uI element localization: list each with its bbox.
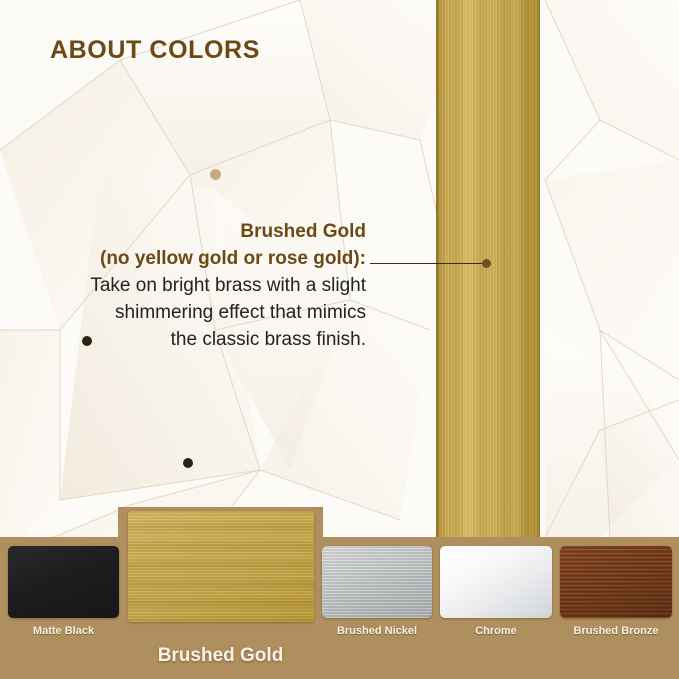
callout-anchor-dot-icon	[482, 259, 491, 268]
callout-line-3: Take on bright brass with a slight	[40, 273, 366, 300]
swatch-label-brushed-nickel: Brushed Nickel	[322, 625, 432, 637]
column-right-edge-shade	[537, 0, 540, 537]
swatch-chrome[interactable]	[440, 546, 552, 618]
callout-line-5: the classic brass finish.	[40, 327, 366, 354]
callout-text-block: Brushed Gold (no yellow gold or rose gol…	[40, 219, 366, 354]
brushed-gold-column	[436, 0, 540, 537]
callout-line-4: shimmering effect that mimics	[40, 300, 366, 327]
decorative-dot-tan	[210, 169, 221, 180]
swatch-brushed-nickel[interactable]	[322, 546, 432, 618]
callout-line-1: Brushed Gold	[40, 219, 366, 246]
callout-line-2: (no yellow gold or rose gold):	[40, 246, 366, 273]
callout-leader-line	[370, 263, 482, 264]
swatch-label-chrome: Chrome	[440, 625, 552, 637]
column-left-edge-shade	[436, 0, 439, 537]
swatch-label-brushed-gold: Brushed Gold	[118, 645, 323, 667]
about-colors-infographic: ABOUT COLORS Brushed Gold (no yellow gol…	[0, 0, 679, 679]
swatch-label-matte-black: Matte Black	[8, 625, 119, 637]
swatch-brushed-bronze[interactable]	[560, 546, 672, 618]
page-title: ABOUT COLORS	[50, 36, 260, 65]
swatch-matte-black[interactable]	[8, 546, 119, 618]
decorative-dot-dark-2	[183, 458, 193, 468]
swatch-label-brushed-bronze: Brushed Bronze	[560, 625, 672, 637]
swatch-brushed-gold[interactable]	[128, 511, 314, 622]
